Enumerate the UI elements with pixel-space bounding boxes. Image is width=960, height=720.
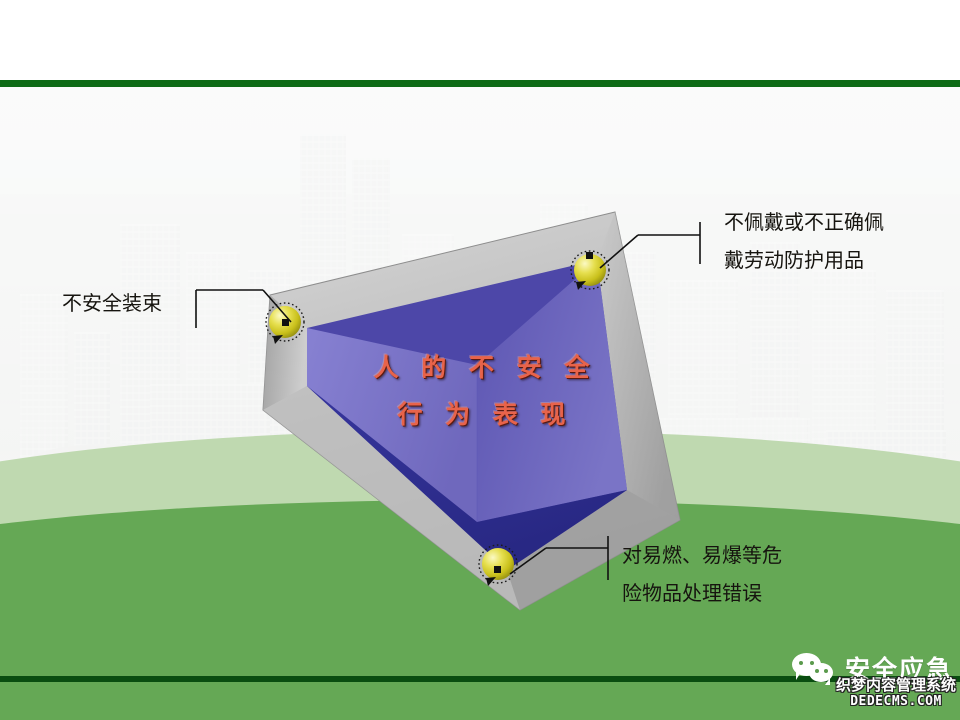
wechat-bubble-large-tail: [796, 672, 801, 680]
callout-hazmat-line2: 险物品处理错误: [622, 574, 782, 612]
callout-hazmat-line1: 对易燃、易爆等危: [622, 536, 782, 574]
green-footer-band: [0, 680, 960, 720]
leader-line-top-right: [600, 222, 720, 272]
wechat-eye: [824, 669, 828, 673]
callout-no-ppe-line1: 不佩戴或不正确佩: [724, 203, 884, 241]
wechat-eye: [799, 661, 803, 665]
wechat-bubble-small-tail: [825, 678, 830, 685]
callout-no-ppe-line2: 戴劳动防护用品: [724, 241, 884, 279]
callout-unsafe-dress-line1: 不安全装束: [62, 284, 162, 322]
slide-canvas: 人 的 不 安 全 行 为 表 现 不安全装束 不佩戴或不正确佩 戴劳动防护用品: [0, 0, 960, 720]
leader-line-bottom-right: [510, 540, 630, 590]
callout-hazmat: 对易燃、易爆等危 险物品处理错误: [622, 536, 782, 612]
callout-no-ppe: 不佩戴或不正确佩 戴劳动防护用品: [724, 203, 884, 279]
top-divider-rule: [0, 80, 960, 87]
callout-unsafe-dress: 不安全装束: [62, 284, 162, 322]
brand-name: 安全应急: [845, 650, 953, 686]
footer-brand: 安全应急: [792, 650, 953, 686]
leader-line-left: [195, 288, 315, 338]
wechat-icon: [792, 652, 836, 684]
wechat-eye: [815, 669, 819, 673]
